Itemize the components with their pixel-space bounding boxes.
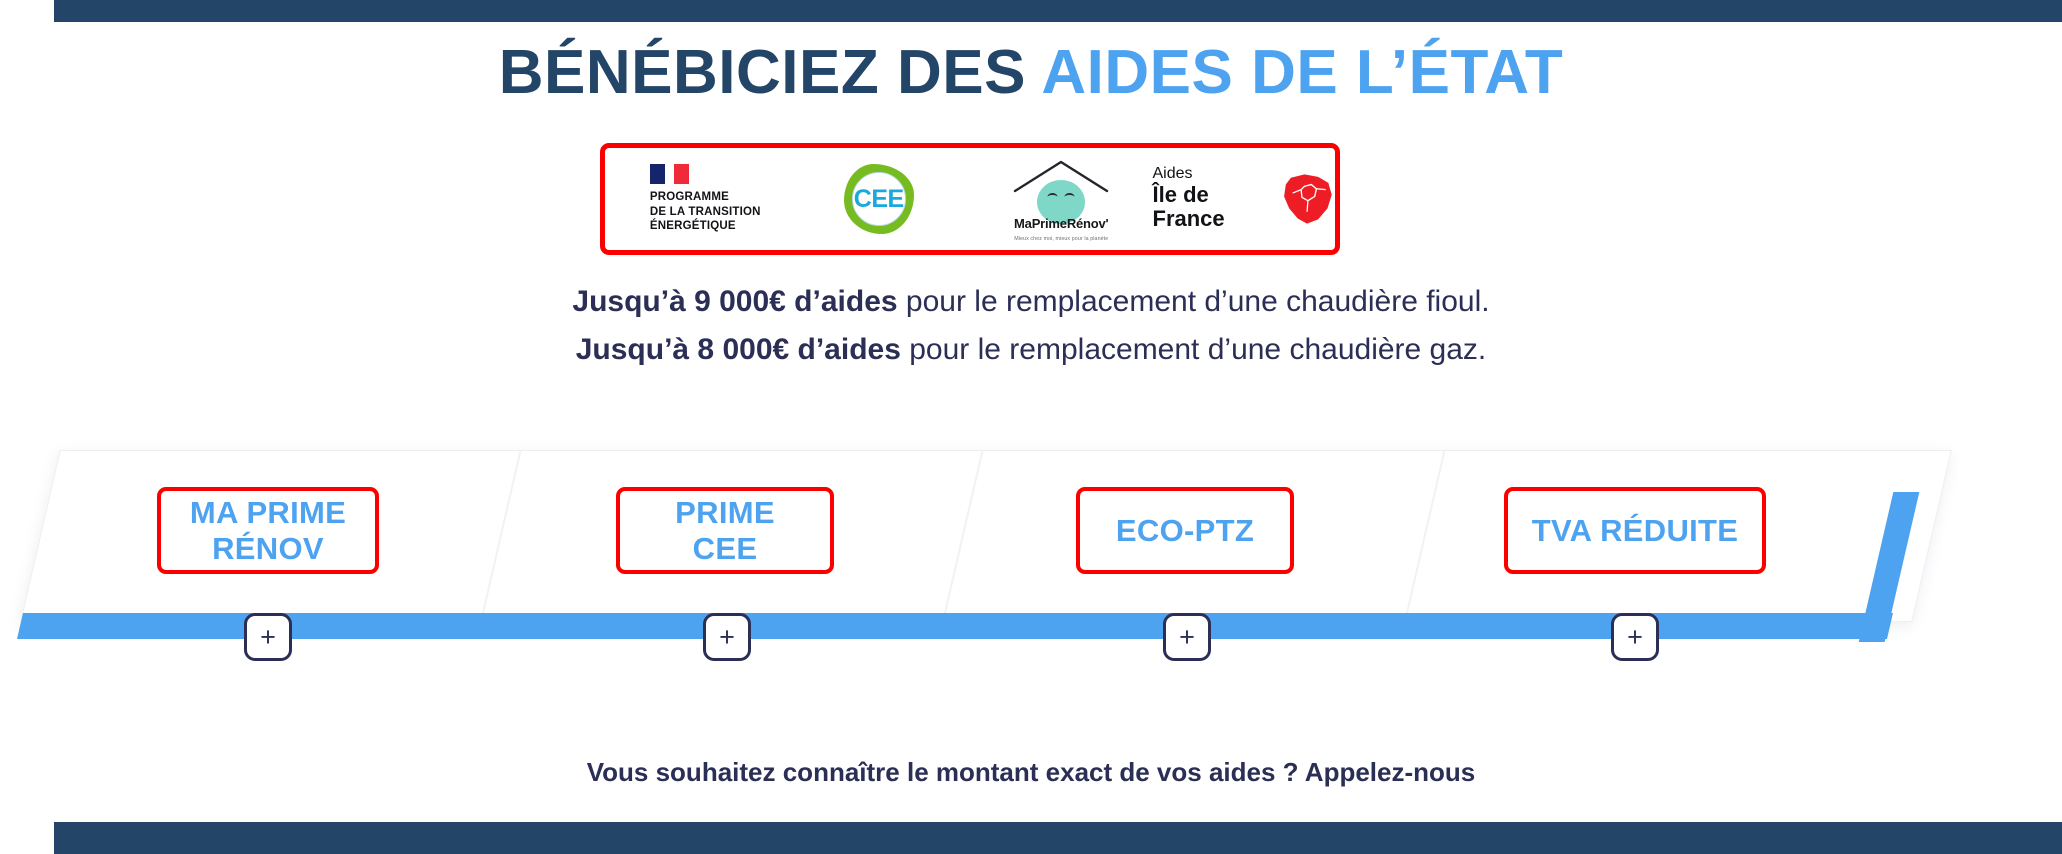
ile-de-france-map-icon xyxy=(1279,168,1335,230)
smiley-eyes-icon xyxy=(1048,193,1075,201)
logo-maprimerenov: MaPrimeRénov' Mieux chez moi, mieux pour… xyxy=(970,148,1153,250)
top-navy-bar xyxy=(54,0,2062,22)
aid-card-label: TVA RÉDUITE xyxy=(1532,513,1739,549)
partner-logos-strip: PROGRAMME DE LA TRANSITION ÉNERGÉTIQUE C… xyxy=(600,143,1340,255)
programme-line-1: PROGRAMME xyxy=(650,190,761,204)
aid-amount-gaz-rest: pour le remplacement d’une chaudière gaz… xyxy=(901,333,1486,366)
contact-cta-text: Vous souhaitez connaître le montant exac… xyxy=(0,757,2062,788)
aid-card-label: MA PRIMERÉNOV xyxy=(190,495,346,566)
aid-amount-lines: Jusqu’à 9 000€ d’aides pour le remplacem… xyxy=(0,278,2062,374)
aid-expand-button-ma-prime-renov[interactable]: + xyxy=(244,613,292,661)
programme-line-3: ÉNERGÉTIQUE xyxy=(650,219,761,233)
logo-cee: CEE xyxy=(788,148,971,250)
aid-amount-fioul-rest: pour le remplacement d’une chaudière fio… xyxy=(898,285,1490,318)
aid-amount-fioul-bold: Jusqu’à 9 000€ d’aides xyxy=(572,285,897,318)
maprimerenov-tagline: Mieux chez moi, mieux pour la planète xyxy=(997,236,1125,242)
programme-line-2: DE LA TRANSITION xyxy=(650,205,761,219)
bottom-navy-bar xyxy=(54,822,2062,854)
aid-amount-line-fioul: Jusqu’à 9 000€ d’aides pour le remplacem… xyxy=(0,278,2062,326)
aid-card-label: PRIMECEE xyxy=(675,495,775,566)
aid-card-label: ECO-PTZ xyxy=(1116,513,1254,549)
aid-card-ma-prime-renov[interactable]: MA PRIMERÉNOV xyxy=(157,487,379,574)
page-title: BÉNÉBICIEZ DES AIDES DE L’ÉTAT xyxy=(0,40,2062,105)
logo-programme-transition-energetique: PROGRAMME DE LA TRANSITION ÉNERGÉTIQUE xyxy=(605,148,788,250)
idf-line-1: Aides xyxy=(1153,166,1267,183)
logo-aides-ile-de-france: Aides Île de France xyxy=(1153,148,1336,250)
aid-amount-gaz-bold: Jusqu’à 8 000€ d’aides xyxy=(576,333,901,366)
idf-line-2: Île de France xyxy=(1153,183,1267,231)
aid-amount-line-gaz: Jusqu’à 8 000€ d’aides pour le remplacem… xyxy=(0,326,2062,374)
aid-expand-button-prime-cee[interactable]: + xyxy=(703,613,751,661)
maprimerenov-name: MaPrimeRénov' xyxy=(997,216,1125,231)
aid-expand-button-tva-reduite[interactable]: + xyxy=(1611,613,1659,661)
aid-card-tva-reduite[interactable]: TVA RÉDUITE xyxy=(1504,487,1766,574)
aid-card-prime-cee[interactable]: PRIMECEE xyxy=(616,487,834,574)
aids-panel: MA PRIMERÉNOV + PRIMECEE + ECO-PTZ + TVA… xyxy=(0,440,2062,680)
aid-card-eco-ptz[interactable]: ECO-PTZ xyxy=(1076,487,1294,574)
aid-expand-button-eco-ptz[interactable]: + xyxy=(1163,613,1211,661)
page-title-dark-part: BÉNÉBICIEZ DES xyxy=(499,38,1042,107)
french-flag-icon xyxy=(650,164,689,184)
page-title-light-part: AIDES DE L’ÉTAT xyxy=(1041,38,1563,107)
cee-label: CEE xyxy=(854,185,904,214)
